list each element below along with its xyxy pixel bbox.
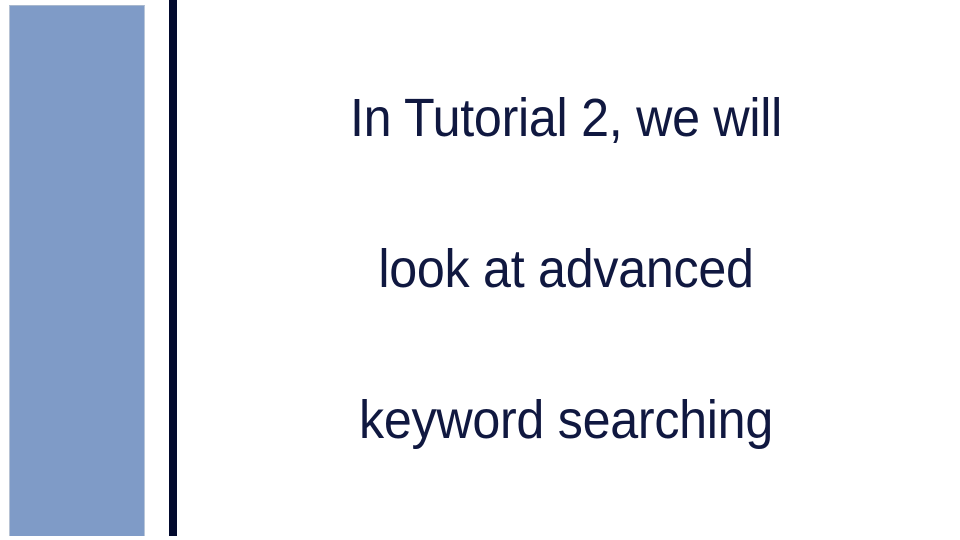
navy-vertical-rule	[169, 0, 177, 536]
slide-content-area: In Tutorial 2, we will look at advanced …	[196, 0, 936, 540]
slide-canvas: In Tutorial 2, we will look at advanced …	[0, 0, 960, 540]
left-blue-bar	[9, 5, 145, 536]
slide-text-line-3: keyword searching	[222, 383, 910, 459]
slide-text-line-2: look at advanced	[222, 232, 910, 308]
slide-body-text: In Tutorial 2, we will look at advanced …	[222, 5, 910, 534]
slide-text-line-1: In Tutorial 2, we will	[222, 81, 910, 157]
